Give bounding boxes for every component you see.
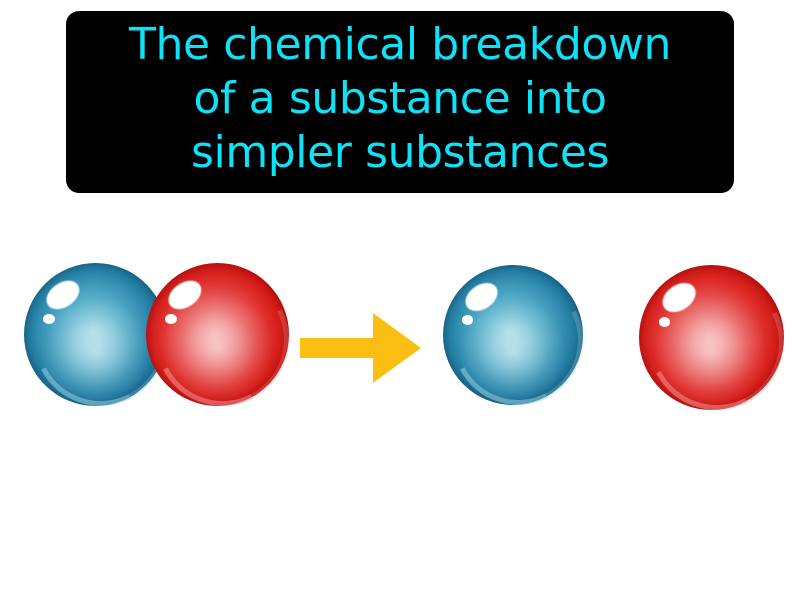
specular-highlight-large-icon [164, 275, 207, 315]
product-red-atom [639, 265, 784, 410]
specular-highlight-small-icon [659, 317, 671, 327]
specular-highlight-large-icon [460, 277, 502, 316]
definition-card: The chemical breakdown of a substance in… [0, 0, 800, 600]
sphere-rim-arc-icon [436, 258, 600, 422]
reaction-diagram [0, 0, 800, 600]
sphere-rim-arc-icon [632, 258, 800, 428]
product-blue-atom [443, 265, 583, 405]
specular-highlight-small-icon [165, 314, 176, 324]
reactant-red-atom [146, 263, 289, 406]
specular-highlight-large-icon [657, 277, 701, 318]
specular-highlight-large-icon [42, 275, 85, 315]
specular-highlight-small-icon [43, 314, 54, 324]
specular-highlight-small-icon [462, 315, 473, 325]
